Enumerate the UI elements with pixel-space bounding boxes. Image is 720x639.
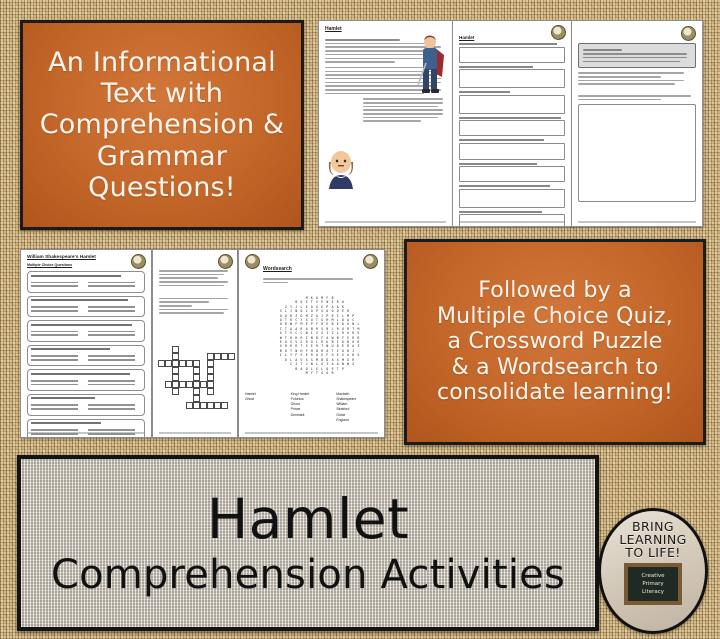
mcq-heading: William Shakespeare's Hamlet <box>27 255 145 260</box>
grammar-instruction-1 <box>578 72 696 85</box>
wordsearch-word-column: HamletGhost <box>245 392 288 423</box>
logo-tagline: BRING LEARNING TO LIFE! <box>619 520 686 559</box>
shakespeare-portrait-illustration <box>324 147 358 189</box>
logo-seal-icon <box>551 25 566 40</box>
wordsearch-word-column: King HamletPoloniusGhostPrinceDenmark <box>291 392 334 423</box>
wordsearch-word-list: HamletGhost King HamletPoloniusGhostPrin… <box>245 392 379 423</box>
logo-seal-icon <box>218 254 233 269</box>
logo-seal-icon-left <box>245 254 260 269</box>
wordsearch-word: England <box>336 418 379 423</box>
crossword-page[interactable] <box>152 249 238 438</box>
question-item[interactable] <box>459 66 565 89</box>
mcq-question[interactable] <box>27 369 145 391</box>
wordsearch-word: Ghost <box>245 397 288 402</box>
information-text-page[interactable]: Hamlet <box>318 20 453 227</box>
intro-banner-panel: An Informational Text with Comprehension… <box>20 20 304 230</box>
mcq-question[interactable] <box>27 271 145 293</box>
mcq-question-list <box>27 271 145 438</box>
followed-by-banner-text: Followed by a Multiple Choice Quiz, a Cr… <box>431 276 679 408</box>
crossword-clues-down <box>159 298 231 314</box>
mcq-question[interactable] <box>27 345 145 367</box>
mcq-question[interactable] <box>27 296 145 318</box>
crossword-grid[interactable] <box>158 346 232 420</box>
grammar-page[interactable] <box>571 20 703 227</box>
wordsearch-word: Denmark <box>291 413 334 418</box>
mcq-question[interactable] <box>27 419 145 438</box>
grammar-callout <box>578 43 696 68</box>
chalk-line1: Creative <box>641 572 664 580</box>
question-item[interactable] <box>459 185 565 208</box>
product-title-line1: Hamlet <box>207 492 409 547</box>
brand-logo-badge[interactable]: BRING LEARNING TO LIFE! Creative Primary… <box>598 508 708 634</box>
comprehension-questions-page[interactable]: Hamlet <box>452 20 572 227</box>
page-footer-credit <box>578 221 696 223</box>
information-text-paragraph-3 <box>363 98 446 122</box>
wordsearch-page[interactable]: Wordsearch MKOMFBBQETVENERAZYJLEOGEPAAKS… <box>238 249 385 438</box>
chalk-line2: Primary <box>642 580 663 588</box>
grammar-instruction-2 <box>578 95 696 100</box>
mcq-question[interactable] <box>27 320 145 342</box>
page-footer-credit <box>27 432 145 434</box>
page-footer-credit <box>245 432 378 434</box>
hamlet-character-illustration <box>414 33 448 95</box>
logo-seal-icon-right <box>363 254 378 269</box>
question-list <box>459 43 565 227</box>
wordsearch-cell <box>356 371 361 375</box>
logo-seal-icon <box>131 254 146 269</box>
question-item[interactable] <box>459 163 565 183</box>
grammar-answer-area[interactable] <box>578 104 696 202</box>
crossword-clues-across <box>159 270 231 286</box>
mcq-question[interactable] <box>27 394 145 416</box>
question-item[interactable] <box>459 91 565 114</box>
question-item[interactable] <box>459 211 565 228</box>
title-banner: Hamlet Comprehension Activities <box>17 455 599 631</box>
page-footer-credit <box>325 221 446 223</box>
wordsearch-instruction <box>263 278 378 283</box>
chalkboard-icon: Creative Primary Literacy <box>624 563 682 605</box>
question-item[interactable] <box>459 43 565 63</box>
wordsearch-letter-grid[interactable]: MKOMFBBQETVENERAZYJLEOGEPAAKSLINOLOPGOOQ… <box>273 296 361 375</box>
chalk-line3: Literacy <box>642 588 664 596</box>
logo-seal-icon <box>681 26 696 41</box>
wordsearch-word-column: MacbethShakespeareWilliamStratfordGlobeE… <box>336 392 379 423</box>
page-footer-credit <box>459 221 565 223</box>
page-footer-credit <box>159 432 231 434</box>
intro-banner-text: An Informational Text with Comprehension… <box>34 45 291 206</box>
multiple-choice-page[interactable]: William Shakespeare's Hamlet Multiple Ch… <box>20 249 152 438</box>
question-item[interactable] <box>459 139 565 160</box>
logo-tagline-line3: TO LIFE! <box>619 546 686 559</box>
question-item[interactable] <box>459 117 565 137</box>
product-title-line2: Comprehension Activities <box>51 555 565 595</box>
followed-by-banner-panel: Followed by a Multiple Choice Quiz, a Cr… <box>404 239 706 445</box>
